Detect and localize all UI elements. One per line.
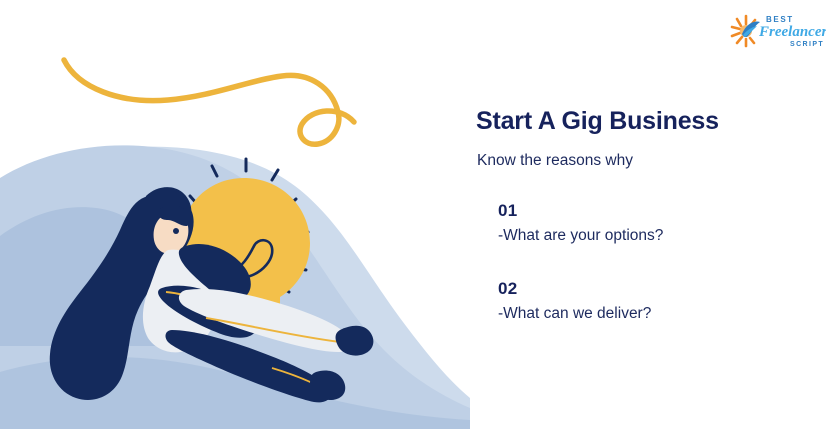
point-text: -What can we deliver?: [498, 306, 651, 322]
page-title: Start A Gig Business: [476, 107, 719, 136]
list-item: 01 -What are your options?: [498, 202, 663, 244]
point-text: -What are your options?: [498, 228, 663, 244]
woman-eye: [173, 228, 179, 234]
yellow-swirl-line: [64, 60, 354, 144]
slide-canvas: BEST Freelancers SCRIPT Start A Gig Busi…: [0, 0, 840, 429]
point-number: 01: [498, 202, 663, 219]
list-item: 02 -What can we deliver?: [498, 280, 651, 322]
point-number: 02: [498, 280, 651, 297]
text-column: Start A Gig Business Know the reasons wh…: [476, 0, 816, 429]
page-subtitle: Know the reasons why: [477, 152, 633, 170]
woman-holding-lightbulb-illustration: [0, 0, 470, 429]
